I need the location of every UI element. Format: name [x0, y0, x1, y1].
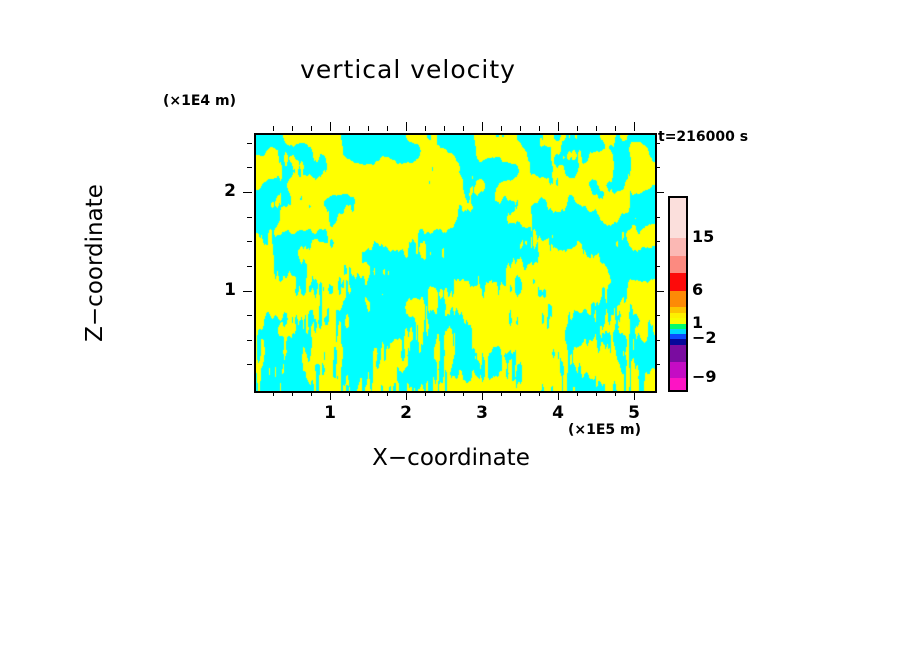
x-tick-label: 4 [543, 403, 573, 423]
colorbar-tick-label: 15 [692, 227, 714, 246]
x-minor-tick [273, 391, 274, 396]
colorbar-tick-label: −2 [692, 328, 717, 347]
y-minor-tick-right [655, 143, 660, 144]
x-minor-tick [368, 391, 369, 396]
x-minor-tick-top [292, 126, 293, 131]
x-minor-tick-top [425, 126, 426, 131]
colorbar [668, 196, 688, 392]
x-minor-tick [596, 391, 597, 396]
y-major-tick [243, 291, 252, 292]
velocity-field-canvas [256, 135, 655, 391]
colorbar-band [670, 291, 686, 307]
x-minor-tick-top [463, 126, 464, 131]
y-minor-tick [247, 364, 252, 365]
x-minor-tick [387, 391, 388, 396]
x-minor-tick [311, 391, 312, 396]
y-axis-unit-label: (×1E4 m) [163, 93, 236, 109]
y-major-tick-right [655, 291, 664, 292]
x-minor-tick-top [596, 126, 597, 131]
colorbar-tick-label: 6 [692, 280, 703, 299]
x-minor-tick-top [444, 126, 445, 131]
title-text: vertical velocity [300, 55, 516, 84]
y-minor-tick [247, 241, 252, 242]
x-axis-title-text: X−coordinate [372, 445, 530, 471]
x-major-tick-top [406, 122, 407, 131]
y-axis-title: Z−coordinate [82, 113, 108, 413]
x-minor-tick-top [311, 126, 312, 131]
x-major-tick [558, 391, 559, 400]
x-minor-tick [520, 391, 521, 396]
x-minor-tick-top [273, 126, 274, 131]
x-minor-tick [501, 391, 502, 396]
x-axis-title: X−coordinate [0, 445, 904, 471]
x-minor-tick [615, 391, 616, 396]
y-minor-tick-right [655, 364, 660, 365]
x-minor-tick-top [520, 126, 521, 131]
x-minor-tick [444, 391, 445, 396]
timestamp-annotation: t=216000 s [658, 129, 748, 145]
x-axis-unit-label: (×1E5 m) [568, 422, 641, 438]
x-tick-label: 5 [619, 403, 649, 423]
y-minor-tick [247, 217, 252, 218]
x-major-tick-top [634, 122, 635, 131]
x-major-tick-top [482, 122, 483, 131]
x-minor-tick-top [615, 126, 616, 131]
y-minor-tick [247, 340, 252, 341]
x-minor-tick-top [501, 126, 502, 131]
x-major-tick [406, 391, 407, 400]
x-major-tick [482, 391, 483, 400]
x-minor-tick [349, 391, 350, 396]
x-major-tick-top [330, 122, 331, 131]
y-minor-tick-right [655, 167, 660, 168]
x-minor-tick [425, 391, 426, 396]
y-minor-tick-right [655, 340, 660, 341]
x-minor-tick-top [368, 126, 369, 131]
x-minor-tick-top [577, 126, 578, 131]
y-minor-tick-right [655, 241, 660, 242]
x-minor-tick-top [387, 126, 388, 131]
colorbar-band [670, 362, 686, 378]
x-minor-tick [577, 391, 578, 396]
contour-plot-area [254, 133, 657, 393]
y-major-tick [243, 192, 252, 193]
colorbar-tick-label: −9 [692, 367, 717, 386]
x-major-tick-top [558, 122, 559, 131]
y-minor-tick [247, 143, 252, 144]
y-minor-tick-right [655, 266, 660, 267]
x-minor-tick-top [539, 126, 540, 131]
x-tick-label: 1 [315, 403, 345, 423]
y-minor-tick [247, 266, 252, 267]
y-minor-tick-right [655, 217, 660, 218]
colorbar-band [670, 198, 686, 238]
colorbar-band [670, 273, 686, 291]
y-minor-tick-right [655, 315, 660, 316]
y-major-tick-right [655, 192, 664, 193]
colorbar-band [670, 378, 686, 390]
colorbar-band [670, 238, 686, 256]
colorbar-band [670, 256, 686, 273]
x-tick-label: 2 [391, 403, 421, 423]
x-major-tick [330, 391, 331, 400]
colorbar-band [670, 345, 686, 362]
y-minor-tick [247, 167, 252, 168]
y-minor-tick [247, 315, 252, 316]
y-tick-label: 1 [206, 280, 236, 300]
x-minor-tick [463, 391, 464, 396]
y-tick-label: 2 [206, 181, 236, 201]
figure-canvas: vertical velocity (×1E4 m) (×1E5 m) t=21… [0, 0, 904, 654]
x-minor-tick [539, 391, 540, 396]
x-major-tick [634, 391, 635, 400]
page-title: vertical velocity [0, 55, 904, 84]
x-minor-tick-top [349, 126, 350, 131]
x-minor-tick [292, 391, 293, 396]
x-tick-label: 3 [467, 403, 497, 423]
